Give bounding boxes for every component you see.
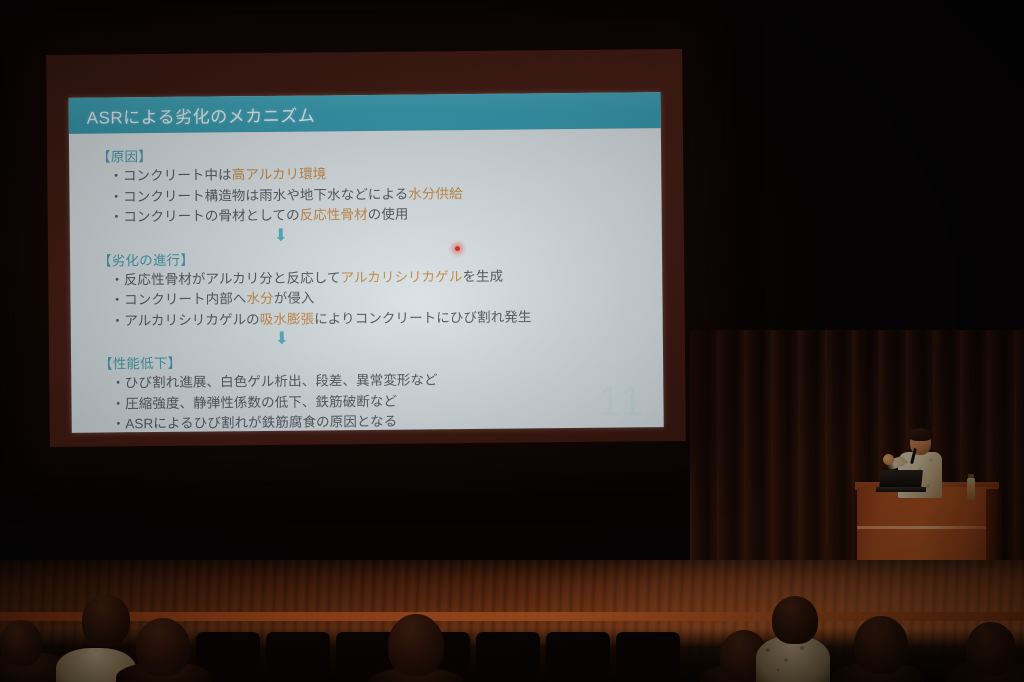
audience-member bbox=[82, 594, 130, 646]
bullet-text: ・圧縮強度、静弾性係数の低下、鉄筋破断など bbox=[111, 393, 397, 411]
seat-back bbox=[266, 632, 330, 682]
slide-section: 【原因】・コンクリート中は高アルカリ環境・コンクリート構造物は雨水や地下水などに… bbox=[69, 140, 662, 228]
bullet-text: ・ひび割れ進展、白色ゲル析出、段差、異常変形など bbox=[111, 372, 438, 390]
highlighted-term: 水分供給 bbox=[408, 186, 463, 202]
audience-member bbox=[0, 620, 42, 666]
laser-pointer-dot bbox=[455, 246, 460, 251]
bullet-text: ・反応性骨材がアルカリ分と反応して bbox=[110, 270, 340, 287]
highlighted-term: 反応性骨材 bbox=[300, 207, 368, 223]
highlighted-term: 高アルカリ環境 bbox=[232, 166, 327, 182]
glasses-icon bbox=[910, 438, 928, 443]
presentation-slide: ASRによる劣化のメカニズム 【原因】・コンクリート中は高アルカリ環境・コンクリ… bbox=[69, 92, 664, 433]
arrow-down-icon: ⬇ bbox=[274, 227, 288, 242]
slide-title: ASRによる劣化のメカニズム bbox=[69, 101, 316, 128]
bullet-text: によりコンクリートにひび割れ発生 bbox=[314, 309, 531, 326]
audience-member bbox=[966, 622, 1016, 676]
slide-section: 【劣化の進行】・反応性骨材がアルカリ分と反応してアルカリシリカゲルを生成・コンク… bbox=[70, 244, 663, 332]
slide-section: 【性能低下】・ひび割れ進展、白色ゲル析出、段差、異常変形など・圧縮強度、静弾性係… bbox=[71, 347, 664, 433]
bullet-text: ・コンクリート内部へ bbox=[110, 291, 246, 307]
projection-screen: ASRによる劣化のメカニズム 【原因】・コンクリート中は高アルカリ環境・コンクリ… bbox=[46, 49, 686, 447]
slide-page-number: 11 bbox=[598, 377, 646, 425]
seat-back bbox=[616, 632, 680, 682]
bullet-text: の使用 bbox=[368, 207, 409, 222]
highlighted-term: 吸水膨張 bbox=[260, 311, 315, 327]
bullet-text: ・コンクリートの骨材としての bbox=[110, 208, 300, 225]
highlighted-term: 水分 bbox=[246, 291, 273, 306]
bullet-text: ・ASRによるひび割れが鉄筋腐食の原因となる bbox=[112, 414, 398, 432]
bullet-text: ・コンクリート中は bbox=[109, 167, 232, 183]
bullet-text: が侵入 bbox=[274, 291, 315, 306]
seat-back bbox=[476, 632, 540, 682]
seat-back bbox=[546, 632, 610, 682]
bullet-text: ・コンクリート構造物は雨水や地下水などによる bbox=[109, 186, 408, 204]
bullet-text: を生成 bbox=[462, 268, 503, 283]
podium-trim-line bbox=[857, 526, 997, 529]
audience-member bbox=[854, 616, 908, 674]
highlighted-term: アルカリシリカゲル bbox=[340, 269, 462, 285]
laptop-base bbox=[876, 487, 927, 492]
lecture-hall-scene: ASRによる劣化のメカニズム 【原因】・コンクリート中は高アルカリ環境・コンクリ… bbox=[0, 0, 1024, 682]
arrow-down-icon: ⬇ bbox=[275, 331, 289, 346]
bullet-text: ・アルカリシリカゲルの bbox=[111, 312, 260, 328]
slide-title-bar: ASRによる劣化のメカニズム bbox=[69, 92, 661, 134]
audience-member bbox=[136, 618, 190, 676]
audience-member bbox=[388, 614, 444, 676]
audience-member bbox=[772, 596, 818, 644]
water-bottle bbox=[967, 478, 975, 500]
presenter-hand bbox=[883, 454, 894, 465]
slide-body: 【原因】・コンクリート中は高アルカリ環境・コンクリート構造物は雨水や地下水などに… bbox=[69, 128, 664, 433]
